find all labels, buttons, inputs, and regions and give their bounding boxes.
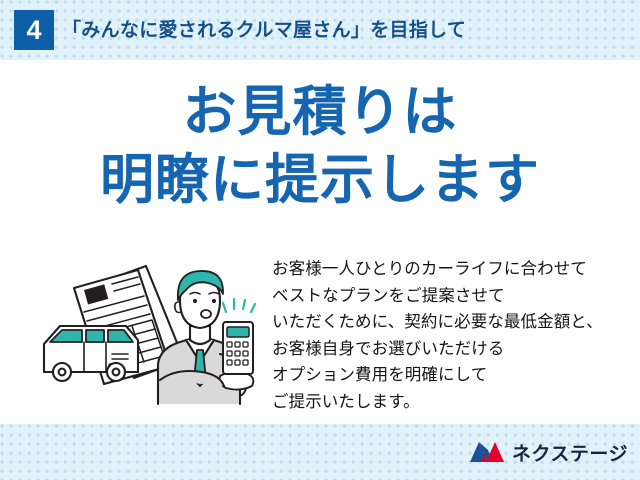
illustration-estimate-scene [34,256,266,408]
body-copy-line-6: ご提示いたします。 [272,389,632,416]
headline: お見積りは 明瞭に提示します [0,78,640,214]
body-copy-line-2: ベストなプランをご提案させて [272,283,632,310]
calculator [223,322,253,374]
headline-line-1: お見積りは [0,78,640,146]
sparkle-lines [223,299,255,312]
step-number-badge: 4 [14,10,54,50]
nextstage-n-mark-icon [469,441,505,463]
promo-slide: 4 「みんなに愛されるクルマ屋さん」を目指して お見積りは 明瞭に提示します [0,0,640,480]
header-inner: 4 「みんなに愛されるクルマ屋さん」を目指して [0,0,640,60]
header-band: 4 「みんなに愛されるクルマ屋さん」を目指して [0,0,640,60]
body-copy-line-5: オプション費用を明確にして [272,362,632,389]
headline-line-2: 明瞭に提示します [0,146,640,214]
footer-band: ネクステージ [0,424,640,480]
body-copy: お客様一人ひとりのカーライフに合わせて ベストなプランをご提案させて いただくた… [272,256,632,415]
van [44,326,138,381]
body-copy-line-4: お客様自身でお選びいただける [272,336,632,363]
header-title: 「みんなに愛されるクルマ屋さん」を目指して [62,0,466,60]
body-copy-line-1: お客様一人ひとりのカーライフに合わせて [272,256,632,283]
main-content: お見積りは 明瞭に提示します [0,60,640,424]
nextstage-logo: ネクステージ [469,424,628,480]
body-copy-line-3: いただくために、契約に必要な最低金額と、 [272,309,632,336]
nextstage-logo-text: ネクステージ [512,439,628,466]
illustration-svg [34,256,266,408]
